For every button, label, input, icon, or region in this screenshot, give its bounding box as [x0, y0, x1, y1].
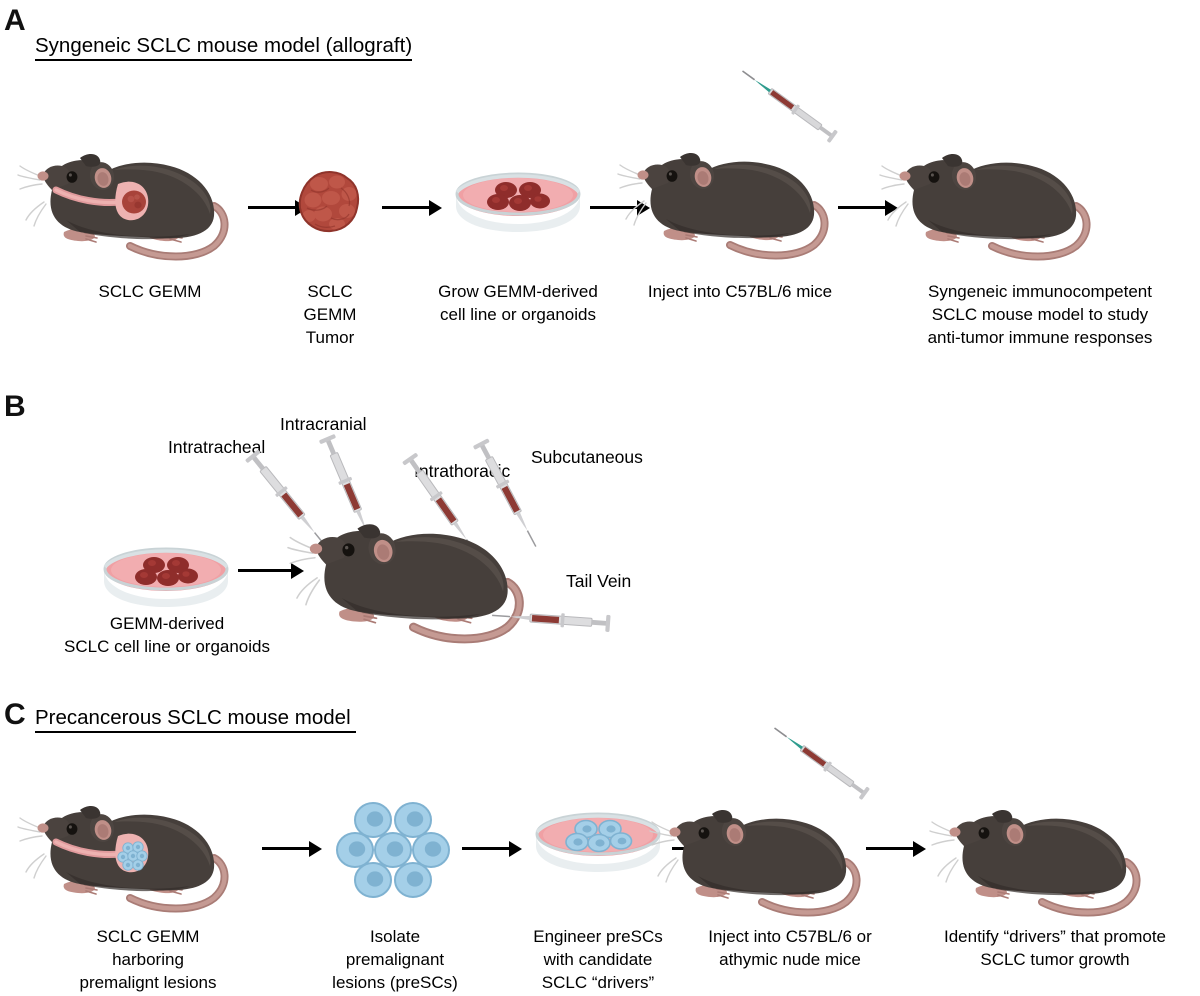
- caption-gemm-derived-dish: GEMM-derived SCLC cell line or organoids: [56, 612, 278, 658]
- arrow-c-2: [462, 841, 522, 857]
- mouse-icon-c: [930, 784, 1162, 924]
- caption-sclc-gemm: SCLC GEMM: [60, 280, 240, 303]
- caption-inject-c57bl6-or-nude: Inject into C57BL/6 or athymic nude mice: [670, 925, 910, 971]
- caption-syngeneic-model: Syngeneic immunocompetent SCLC mouse mod…: [890, 280, 1190, 349]
- mouse-with-premalignant-lesion-icon: [18, 780, 250, 920]
- caption-sclc-gemm-premalignant: SCLC GEMM harboring premalignt lesions: [48, 925, 248, 994]
- panel-letter-b: B: [4, 392, 26, 422]
- mouse-icon: [880, 128, 1112, 268]
- petri-dish-organoids-icon-b: [100, 547, 232, 609]
- route-intracranial-label: Intracranial: [280, 415, 367, 434]
- caption-identify-drivers: Identify “drivers” that promote SCLC tum…: [910, 925, 1200, 971]
- mouse-with-syringe-icon: [608, 85, 873, 270]
- petri-dish-organoids-icon: [452, 172, 584, 234]
- caption-isolate-presc: Isolate premalignant lesions (preSCs): [300, 925, 490, 994]
- mouse-with-syringe-icon-c: [640, 742, 905, 927]
- arrow-a-2: [382, 200, 442, 216]
- arrow-c-1: [262, 841, 322, 857]
- mouse-with-lung-tumor-icon: [18, 128, 250, 268]
- panel-c-title: Precancerous SCLC mouse model: [35, 706, 356, 733]
- tumor-mass-icon: [297, 168, 363, 236]
- caption-sclc-gemm-tumor: SCLC GEMM Tumor: [280, 280, 380, 349]
- arrow-c-4: [866, 841, 926, 857]
- caption-grow-cell-line: Grow GEMM-derived cell line or organoids: [418, 280, 618, 326]
- presc-cell-cluster-icon: [335, 800, 455, 900]
- panel-letter-a: A: [4, 6, 26, 36]
- panel-letter-c: C: [4, 700, 26, 730]
- caption-inject-c57bl6: Inject into C57BL/6 mice: [620, 280, 860, 303]
- caption-engineer-presc: Engineer preSCs with candidate SCLC “dri…: [503, 925, 693, 994]
- injection-routes-diagram: [250, 455, 670, 645]
- panel-a-title: Syngeneic SCLC mouse model (allograft): [35, 34, 412, 61]
